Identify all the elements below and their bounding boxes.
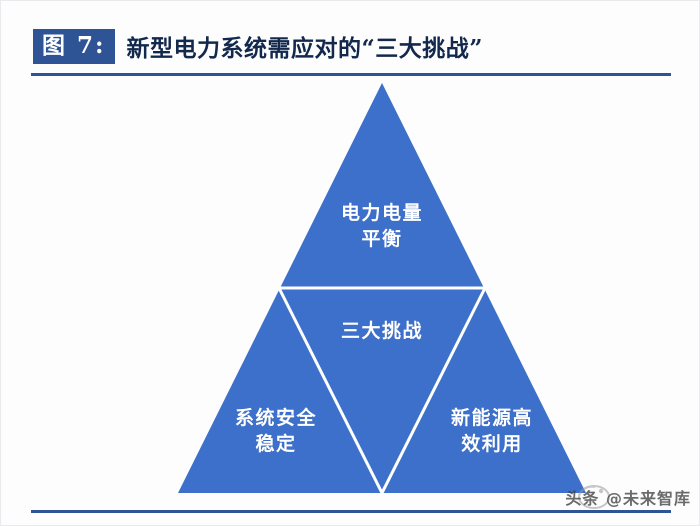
footer-divider-rule [31,510,671,513]
pyramid-segment-bottom-left-label: 系统安全 稳定 [202,406,350,457]
figure-page: 图 7: 新型电力系统需应对的“三大挑战” 电力电量 平衡 三大挑战 系统安全 … [0,0,700,526]
pyramid-segment-center-label: 三大挑战 [302,319,462,345]
figure-number-badge: 图 7: [33,29,115,64]
figure-title-row: 图 7: 新型电力系统需应对的“三大挑战” [33,29,483,64]
pyramid-diagram: 电力电量 平衡 三大挑战 系统安全 稳定 新能源高 效利用 [176,81,588,496]
pyramid-segment-bottom-right-label: 新能源高 效利用 [416,406,568,457]
title-divider-rule [31,73,671,76]
bird-logo-icon [575,481,613,511]
page-title: 新型电力系统需应对的“三大挑战” [127,37,483,64]
pyramid-segment-top-label: 电力电量 平衡 [302,201,462,252]
